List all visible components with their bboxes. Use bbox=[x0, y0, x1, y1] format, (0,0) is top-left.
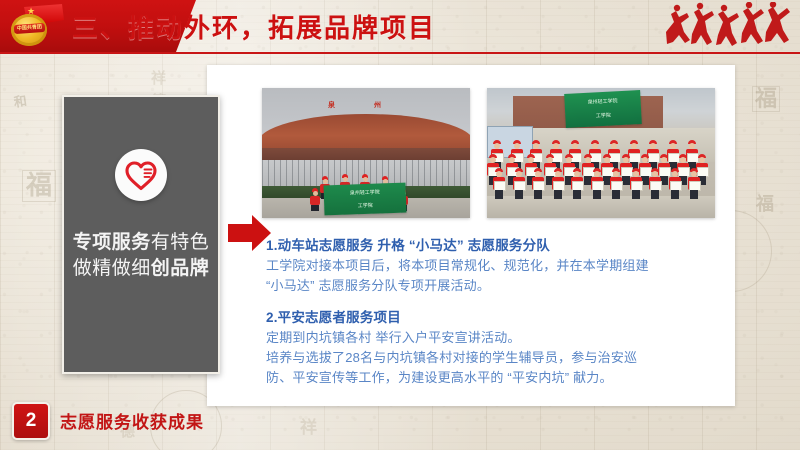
section-1-heading: 1.动车站志愿服务 升格 “小马达” 志愿服务分队 bbox=[266, 236, 718, 256]
feature-line-1-rest: 有特色 bbox=[151, 232, 210, 253]
jumping-people-silhouettes bbox=[654, 2, 794, 48]
footer-caption: 志愿服务收获成果 bbox=[60, 408, 204, 433]
feature-line-2: 做精做细创品牌 bbox=[64, 256, 218, 282]
green-banner: 泉州轻工学院 工学院 bbox=[564, 90, 642, 128]
feature-line-2-bold: 创品牌 bbox=[151, 258, 210, 279]
feature-panel: 专项服务有特色 做精做细创品牌 bbox=[62, 95, 220, 374]
ground bbox=[487, 196, 715, 218]
banner-line-2: 工学院 bbox=[324, 196, 406, 212]
feature-line-1-bold: 专项服务 bbox=[73, 232, 151, 253]
station-sign-right: 州 bbox=[374, 100, 381, 110]
communist-youth-league-emblem: ★ 中国共青团 bbox=[8, 4, 66, 48]
feature-line-2-rest: 做精做细 bbox=[73, 258, 151, 279]
photo-train-station-volunteers: 泉 州 泉州轻工学院 工学院 bbox=[262, 88, 470, 218]
heart-hand-icon bbox=[115, 149, 167, 201]
photo-group-certificates: 泉州轻工学院 工学院 bbox=[487, 88, 715, 218]
section-2-line: 定期到内坑镇各村 举行入户平安宣讲活动。 bbox=[266, 328, 718, 348]
banner-line-2: 工学院 bbox=[565, 104, 642, 122]
section-2-line: 防、平安宣传等工作，为建设更高水平的 “平安内坑” 献力。 bbox=[266, 368, 718, 388]
header-underline bbox=[0, 52, 800, 54]
volunteer-figure bbox=[310, 188, 320, 210]
slide-root: 和 福 祥德 福 福 寿和 祥 德 ★ 中国共青团 三、推动外环，拓展品牌项目 bbox=[0, 0, 800, 450]
station-sign-left: 泉 bbox=[328, 100, 335, 110]
body-text: 1.动车站志愿服务 升格 “小马达” 志愿服务分队 工学院对接本项目后，将本项目… bbox=[266, 236, 718, 388]
section-2-heading: 2.平安志愿者服务项目 bbox=[266, 308, 718, 328]
section-1-line: 工学院对接本项目后，将本项目常规化、规范化，并在本学期组建 bbox=[266, 256, 718, 276]
slide-number-badge: 2 bbox=[12, 402, 50, 440]
heart-hand-glyph bbox=[124, 159, 158, 191]
page-title: 三、推动外环，拓展品牌项目 bbox=[72, 8, 436, 45]
section-spacer bbox=[266, 296, 718, 308]
header-bar: ★ 中国共青团 三、推动外环，拓展品牌项目 bbox=[0, 0, 800, 52]
section-1-line: “小马达” 志愿服务分队专项开展活动。 bbox=[266, 276, 718, 296]
green-banner: 泉州轻工学院 工学院 bbox=[324, 183, 407, 216]
feature-panel-text: 专项服务有特色 做精做细创品牌 bbox=[64, 230, 218, 282]
feature-line-1: 专项服务有特色 bbox=[64, 230, 218, 256]
section-2-line: 培养与选拔了28名与内坑镇各村对接的学生辅导员，参与治安巡 bbox=[266, 348, 718, 368]
